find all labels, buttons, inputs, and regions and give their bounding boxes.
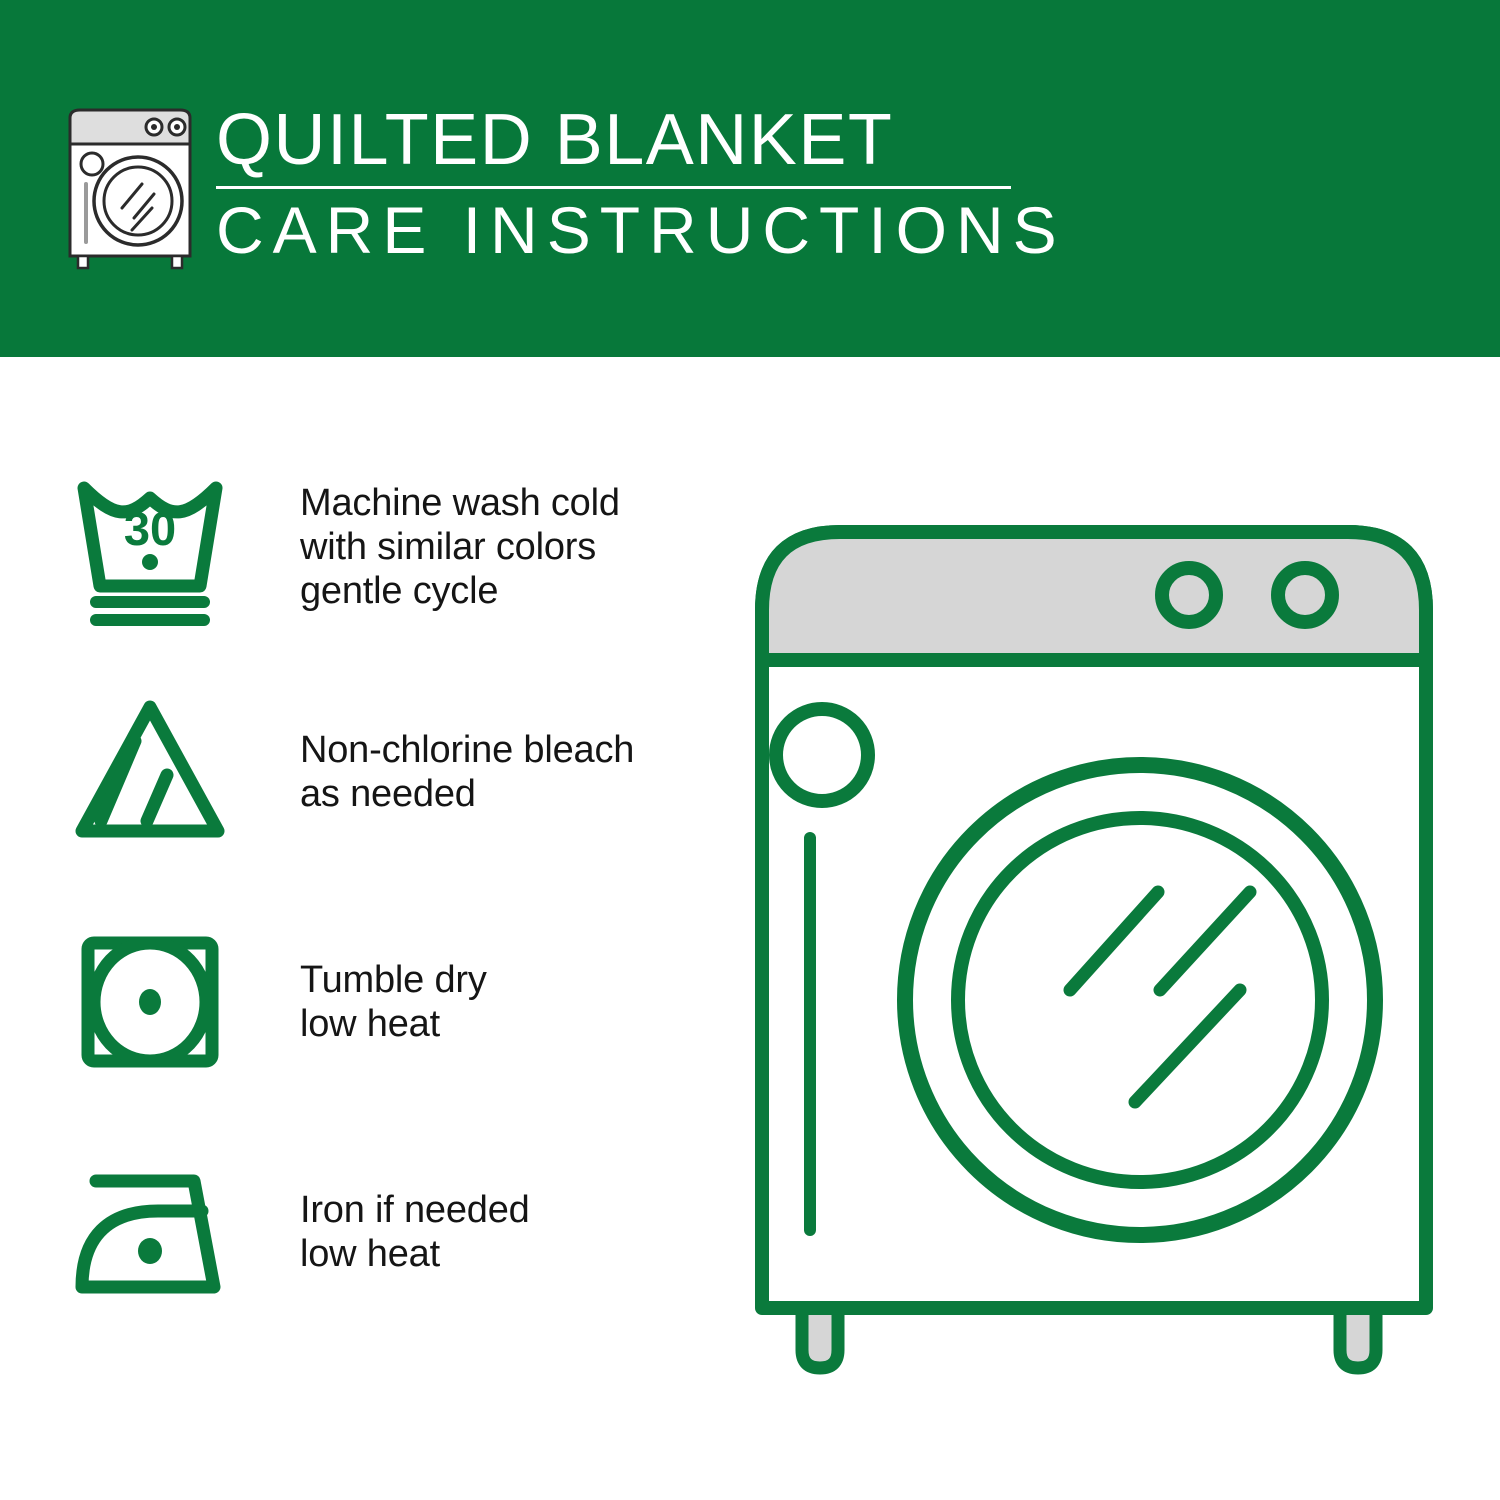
title-divider <box>216 186 1011 189</box>
care-text-machine-wash: Machine wash cold with similar colors ge… <box>300 481 620 613</box>
care-line: low heat <box>300 1002 487 1046</box>
care-line: Iron if needed <box>300 1188 530 1232</box>
care-text-iron: Iron if needed low heat <box>300 1188 530 1276</box>
care-line: Machine wash cold <box>300 481 620 525</box>
care-line: as needed <box>300 772 634 816</box>
care-line: low heat <box>300 1232 530 1276</box>
wash-temperature-label: 30 <box>124 502 176 555</box>
page-subtitle: CARE INSTRUCTIONS <box>216 191 1316 269</box>
care-text-tumble-dry: Tumble dry low heat <box>300 958 487 1046</box>
washer-knob <box>1278 568 1332 622</box>
wash-tub-30-icon: 30 <box>62 462 242 632</box>
header-banner: QUILTED BLANKET CARE INSTRUCTIONS <box>0 0 1500 357</box>
front-load-washing-machine-illustration <box>740 490 1460 1430</box>
header-title-block: QUILTED BLANKET CARE INSTRUCTIONS <box>216 98 1316 269</box>
care-row-iron: Iron if needed low heat <box>0 1147 740 1317</box>
detergent-dispenser-icon <box>776 709 868 801</box>
page-title: QUILTED BLANKET <box>216 98 1316 182</box>
care-line: gentle cycle <box>300 569 620 613</box>
care-line: Non-chlorine bleach <box>300 728 634 772</box>
tumble-dry-low-icon <box>62 917 242 1087</box>
washer-knob <box>1162 568 1216 622</box>
care-line: with similar colors <box>300 525 620 569</box>
iron-low-heat-icon <box>62 1147 242 1317</box>
non-chlorine-bleach-triangle-icon <box>62 687 242 857</box>
care-line: Tumble dry <box>300 958 487 1002</box>
washing-machine-icon <box>62 104 198 270</box>
care-instruction-list: 30 Machine wash cold with similar colors… <box>0 357 740 1500</box>
care-row-machine-wash: 30 Machine wash cold with similar colors… <box>0 462 740 632</box>
care-text-bleach: Non-chlorine bleach as needed <box>300 728 634 816</box>
care-row-tumble-dry: Tumble dry low heat <box>0 917 740 1087</box>
care-row-bleach: Non-chlorine bleach as needed <box>0 687 740 857</box>
washer-drum-inner <box>958 818 1322 1182</box>
